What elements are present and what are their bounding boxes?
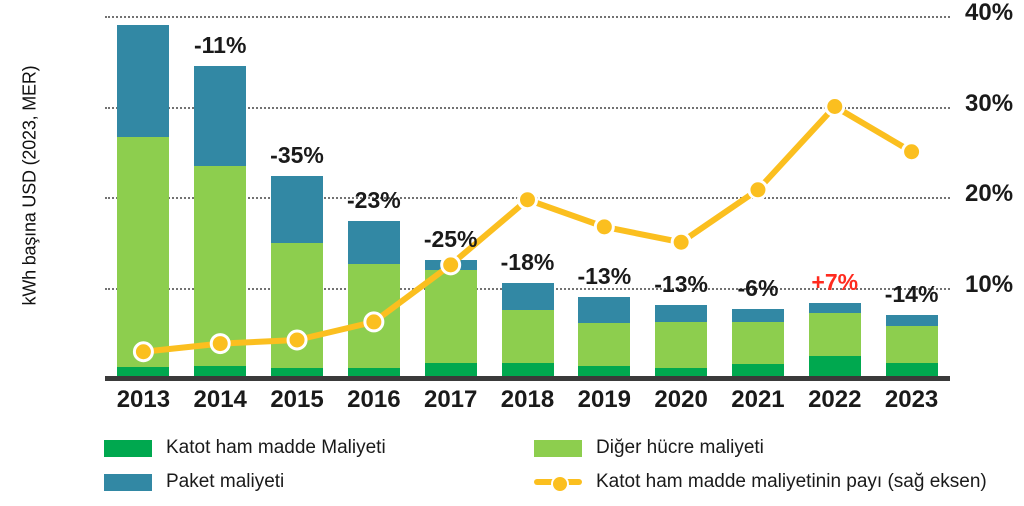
line-marker-2016[interactable] bbox=[365, 313, 383, 331]
y-tick-right-30: 30% bbox=[965, 90, 1024, 118]
legend-item-pack[interactable]: Paket maliyeti bbox=[104, 468, 284, 496]
bar-change-label-2015: -35% bbox=[249, 142, 345, 169]
line-marker-2015[interactable] bbox=[288, 331, 306, 349]
line-marker-2022[interactable] bbox=[826, 98, 844, 116]
y-tick-right-40: 40% bbox=[965, 0, 1024, 27]
x-axis-line bbox=[105, 376, 950, 381]
line-marker-2017[interactable] bbox=[442, 256, 460, 274]
chart-legend: Katot ham madde MaliyetiDiğer hücre mali… bbox=[104, 434, 984, 500]
legend-swatch-cathode_share-icon bbox=[534, 473, 582, 491]
y-tick-right-10: 10% bbox=[965, 271, 1024, 299]
line-marker-2021[interactable] bbox=[749, 181, 767, 199]
line-marker-2013[interactable] bbox=[134, 343, 152, 361]
y-tick-right-20: 20% bbox=[965, 180, 1024, 208]
legend-label-cathode: Katot ham madde Maliyeti bbox=[166, 437, 386, 459]
line-marker-2020[interactable] bbox=[672, 233, 690, 251]
line-series-cathode-share bbox=[105, 16, 950, 378]
bar-change-label-2023: -14% bbox=[864, 281, 960, 308]
legend-item-other[interactable]: Diğer hücre maliyeti bbox=[534, 434, 764, 462]
plot-area: 200400600800 10%20%30%40% -11%-35%-23%-2… bbox=[105, 16, 950, 378]
legend-label-pack: Paket maliyeti bbox=[166, 471, 284, 493]
legend-swatch-pack-icon bbox=[104, 474, 152, 491]
line-marker-2018[interactable] bbox=[519, 191, 537, 209]
line-marker-2014[interactable] bbox=[211, 335, 229, 353]
legend-item-cathode_share[interactable]: Katot ham madde maliyetinin payı (sağ ek… bbox=[534, 468, 987, 496]
legend-item-cathode[interactable]: Katot ham madde Maliyeti bbox=[104, 434, 386, 462]
line-marker-2023[interactable] bbox=[903, 143, 921, 161]
y-axis-title-left: kWh başına USD (2023, MER) bbox=[20, 6, 41, 366]
bar-change-label-2014: -11% bbox=[172, 32, 268, 59]
bar-change-label-2016: -23% bbox=[326, 187, 422, 214]
legend-swatch-cathode-icon bbox=[104, 440, 152, 457]
legend-label-cathode_share: Katot ham madde maliyetinin payı (sağ ek… bbox=[596, 471, 987, 493]
chart-container: kWh başına USD (2023, MER) 200400600800 … bbox=[0, 0, 1024, 506]
legend-label-other: Diğer hücre maliyeti bbox=[596, 437, 764, 459]
legend-swatch-other-icon bbox=[534, 440, 582, 457]
x-tick-2023: 2023 bbox=[864, 386, 960, 414]
line-marker-2019[interactable] bbox=[595, 218, 613, 236]
